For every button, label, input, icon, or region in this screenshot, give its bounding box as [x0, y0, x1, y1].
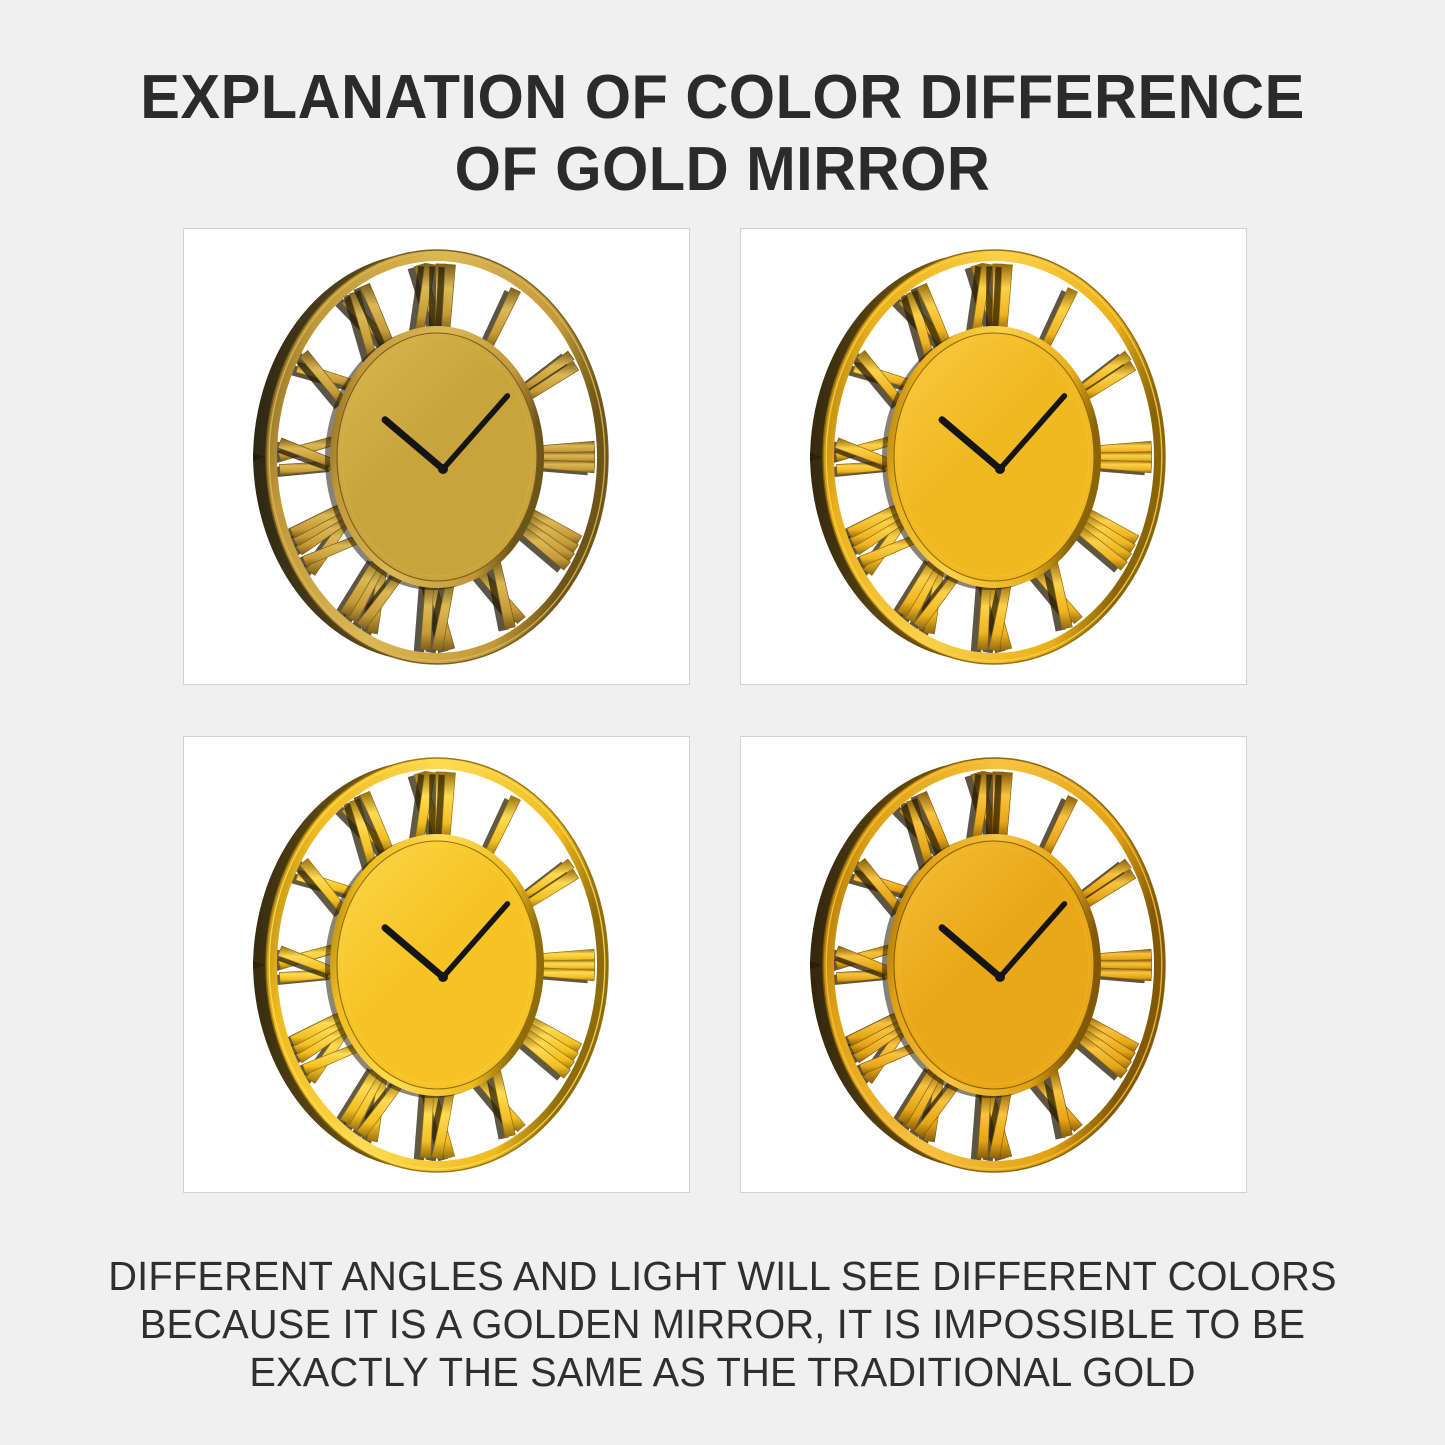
clock-image-bottom-left: [234, 755, 654, 1175]
clock-image-bottom-right: [791, 755, 1211, 1175]
clock-image-top-left: [234, 247, 654, 667]
product-image-grid: [183, 228, 1247, 1193]
product-panel-bottom-right[interactable]: [740, 736, 1247, 1193]
product-panel-top-left[interactable]: [183, 228, 690, 685]
page-title: EXPLANATION OF COLOR DIFFERENCE OF GOLD …: [29, 62, 1416, 206]
page-caption: DIFFERENT ANGLES AND LIGHT WILL SEE DIFF…: [22, 1252, 1424, 1396]
product-panel-bottom-left[interactable]: [183, 736, 690, 1193]
clock-image-top-right: [791, 247, 1211, 667]
product-panel-top-right[interactable]: [740, 228, 1247, 685]
